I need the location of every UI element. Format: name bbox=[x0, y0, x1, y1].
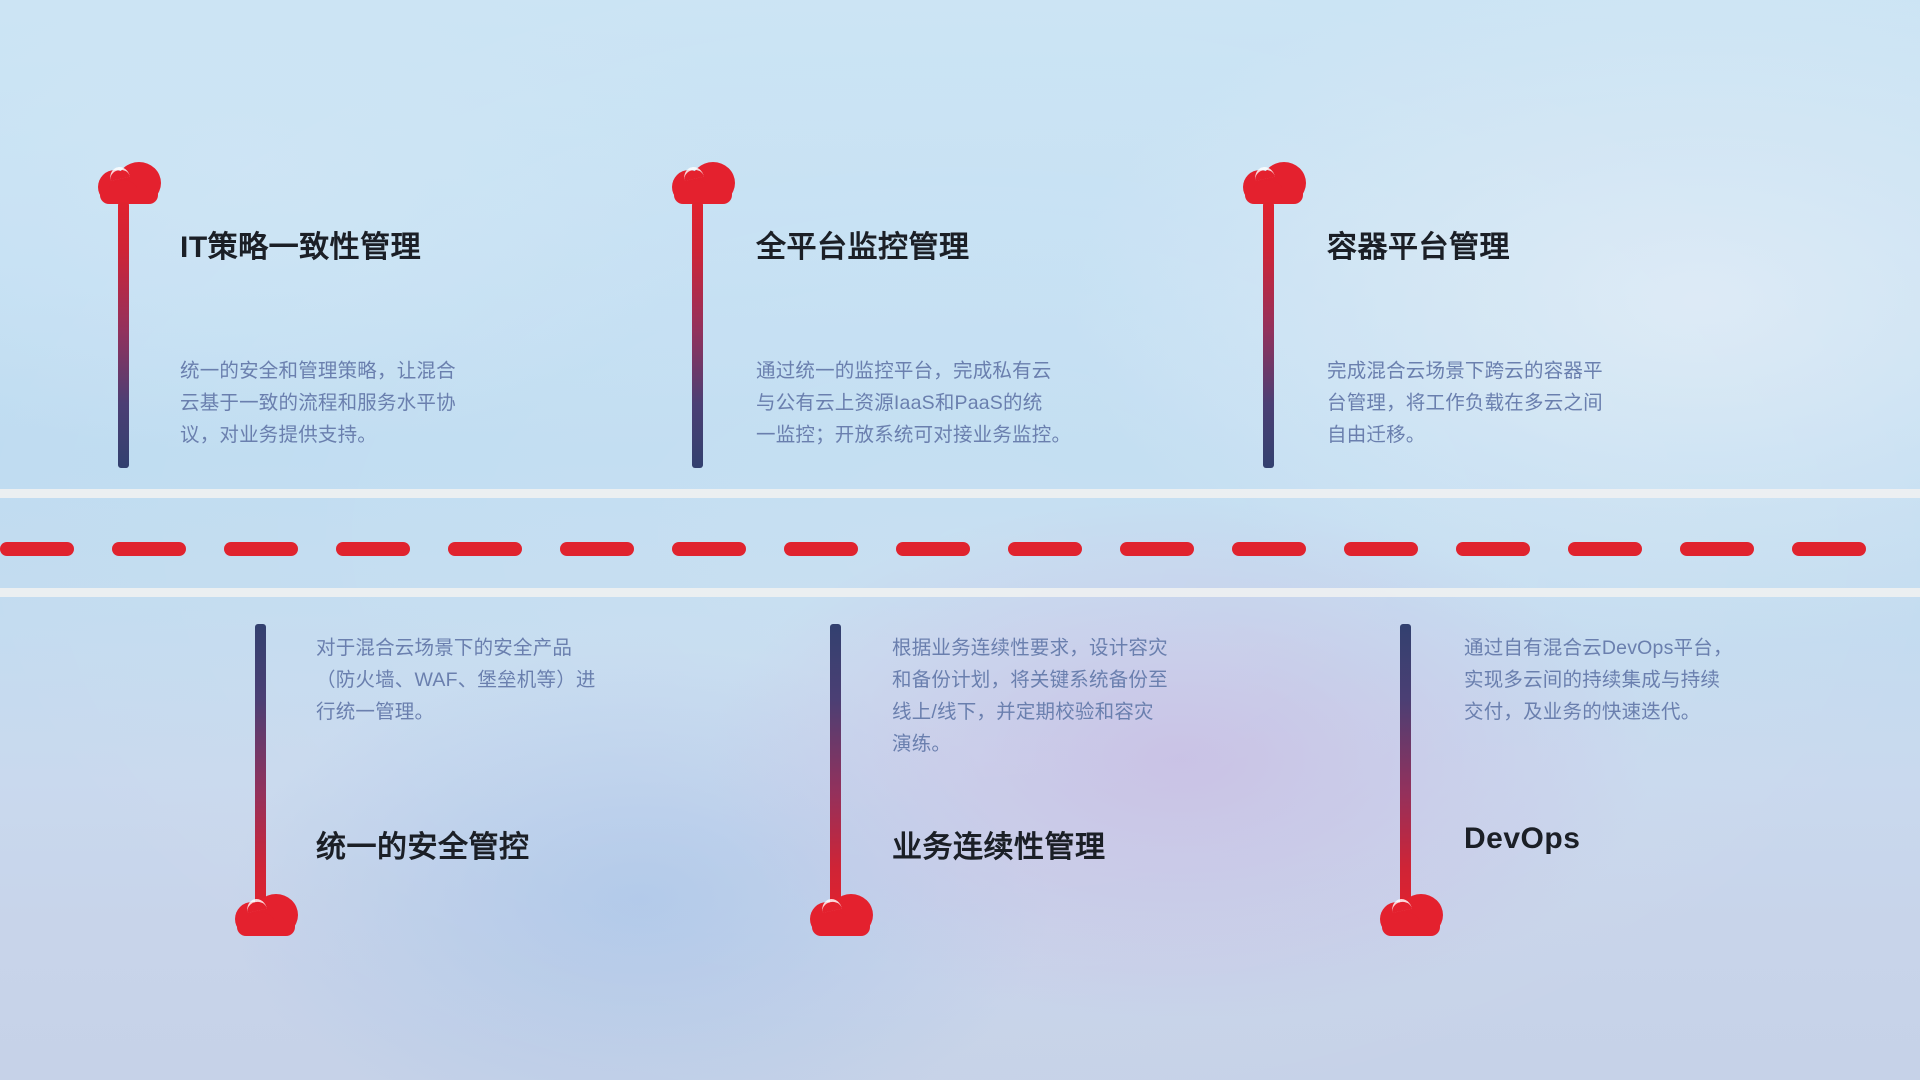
road-dash bbox=[448, 542, 522, 556]
bottom-item-3-body: 通过自有混合云DevOps平台， 实现多云间的持续集成与持续 交付，及业务的快速… bbox=[1464, 632, 1894, 728]
road-dash bbox=[1792, 542, 1866, 556]
cloud-marker-icon bbox=[235, 892, 297, 936]
bottom-item-2-title: 业务连续性管理 bbox=[892, 822, 1106, 866]
bottom-item-2-body: 根据业务连续性要求，设计容灾 和备份计划，将关键系统备份至 线上/线下，并定期校… bbox=[892, 632, 1322, 760]
pole-connector bbox=[255, 624, 266, 914]
road-dash-line bbox=[0, 542, 1920, 556]
road-dash bbox=[1456, 542, 1530, 556]
road-dash bbox=[896, 542, 970, 556]
road-edge-top bbox=[0, 489, 1920, 498]
cloud-marker-icon bbox=[1243, 160, 1305, 204]
road-dash bbox=[112, 542, 186, 556]
pole-connector bbox=[1400, 624, 1411, 914]
cloud-marker-icon bbox=[672, 160, 734, 204]
pole-connector bbox=[118, 202, 129, 468]
bottom-item-1-title: 统一的安全管控 bbox=[316, 822, 530, 866]
top-item-3-body: 完成混合云场景下跨云的容器平 台管理，将工作负载在多云之间 自由迁移。 bbox=[1327, 355, 1757, 451]
cloud-marker-icon bbox=[810, 892, 872, 936]
road-dash bbox=[1680, 542, 1754, 556]
road-dash bbox=[1008, 542, 1082, 556]
top-item-1-title: IT策略一致性管理 bbox=[180, 222, 421, 266]
cloud-marker-icon bbox=[98, 160, 160, 204]
top-item-2-body: 通过统一的监控平台，完成私有云 与公有云上资源IaaS和PaaS的统 一监控；开… bbox=[756, 355, 1196, 451]
road-dash bbox=[672, 542, 746, 556]
road-dash bbox=[1232, 542, 1306, 556]
road-edge-bottom bbox=[0, 588, 1920, 597]
road-dash bbox=[1344, 542, 1418, 556]
road-dash bbox=[1120, 542, 1194, 556]
top-item-2-title: 全平台监控管理 bbox=[756, 222, 970, 266]
pole-connector bbox=[1263, 202, 1274, 468]
cloud-marker-icon bbox=[1380, 892, 1442, 936]
road-dash bbox=[336, 542, 410, 556]
infographic-canvas: IT策略一致性管理 统一的安全和管理策略，让混合 云基于一致的流程和服务水平协 … bbox=[0, 0, 1920, 1080]
bottom-item-1-body: 对于混合云场景下的安全产品 （防火墙、WAF、堡垒机等）进 行统一管理。 bbox=[316, 632, 736, 728]
top-item-3-title: 容器平台管理 bbox=[1327, 222, 1510, 266]
road-dash bbox=[224, 542, 298, 556]
road-dash bbox=[0, 542, 74, 556]
road-dash bbox=[1568, 542, 1642, 556]
top-item-1-body: 统一的安全和管理策略，让混合 云基于一致的流程和服务水平协 议，对业务提供支持。 bbox=[180, 355, 600, 451]
pole-connector bbox=[692, 202, 703, 468]
road-dash bbox=[560, 542, 634, 556]
pole-connector bbox=[830, 624, 841, 914]
bottom-item-3-title: DevOps bbox=[1464, 822, 1580, 856]
road-dash bbox=[784, 542, 858, 556]
